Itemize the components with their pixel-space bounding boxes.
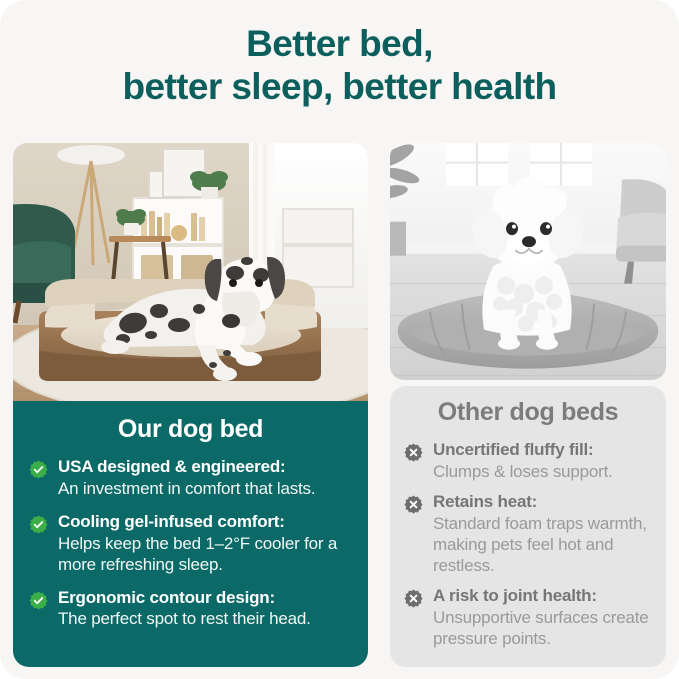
drawback-item: Retains heat: Standard foam traps warmth… (404, 492, 652, 576)
title-line-2: better sleep, better health (0, 65, 679, 108)
drawback-body: Standard foam traps warmth, making pets … (433, 513, 652, 576)
benefit-text: USA designed & engineered: An investment… (58, 457, 315, 499)
drawback-heading: Uncertified fluffy fill: (433, 440, 593, 459)
our-dog-bed-panel: Our dog bed USA designed & engineered: A… (13, 401, 368, 667)
cross-badge-icon (404, 443, 423, 462)
benefit-text: Cooling gel-infused comfort: Helps keep … (58, 512, 352, 575)
benefit-item: USA designed & engineered: An investment… (29, 457, 352, 499)
cross-badge-icon (404, 495, 423, 514)
benefit-item: Ergonomic contour design: The perfect sp… (29, 588, 352, 630)
drawback-heading: Retains heat: (433, 492, 537, 511)
comparison-columns: Our dog bed USA designed & engineered: A… (13, 143, 666, 667)
benefit-body: An investment in comfort that lasts. (58, 478, 315, 499)
other-dog-beds-photo (390, 143, 666, 380)
drawback-text: Uncertified fluffy fill: Clumps & loses … (433, 440, 613, 482)
drawback-body: Unsupportive surfaces create pressure po… (433, 607, 652, 649)
drawback-heading: A risk to joint health: (433, 586, 597, 605)
check-badge-icon (29, 591, 48, 610)
other-dog-beds-drawbacks-list: Uncertified fluffy fill: Clumps & loses … (404, 440, 652, 649)
drawback-item: Uncertified fluffy fill: Clumps & loses … (404, 440, 652, 482)
check-badge-icon (29, 460, 48, 479)
title-line-1: Better bed, (0, 22, 679, 65)
drawback-text: A risk to joint health: Unsupportive sur… (433, 586, 652, 649)
benefit-heading: Ergonomic contour design: (58, 588, 275, 607)
page-title: Better bed, better sleep, better health (0, 22, 679, 109)
our-dog-bed-photo (13, 143, 368, 401)
column-other-dog-beds: Other dog beds Uncertified fluffy fill: … (390, 143, 666, 667)
check-badge-icon (29, 515, 48, 534)
drawback-text: Retains heat: Standard foam traps warmth… (433, 492, 652, 576)
our-dog-bed-benefits-list: USA designed & engineered: An investment… (29, 457, 352, 630)
other-dog-beds-panel: Other dog beds Uncertified fluffy fill: … (390, 386, 666, 667)
benefit-item: Cooling gel-infused comfort: Helps keep … (29, 512, 352, 575)
benefit-body: The perfect spot to rest their head. (58, 608, 311, 629)
drawback-body: Clumps & loses support. (433, 461, 613, 482)
benefit-body: Helps keep the bed 1–2°F cooler for a mo… (58, 533, 352, 575)
benefit-heading: USA designed & engineered: (58, 457, 286, 476)
drawback-item: A risk to joint health: Unsupportive sur… (404, 586, 652, 649)
benefit-heading: Cooling gel-infused comfort: (58, 512, 285, 531)
our-dog-bed-heading: Our dog bed (29, 415, 352, 444)
comparison-infographic: Better bed, better sleep, better health (0, 0, 679, 679)
other-dog-beds-heading: Other dog beds (404, 398, 652, 427)
cross-badge-icon (404, 589, 423, 608)
benefit-text: Ergonomic contour design: The perfect sp… (58, 588, 311, 630)
column-our-dog-bed: Our dog bed USA designed & engineered: A… (13, 143, 368, 667)
